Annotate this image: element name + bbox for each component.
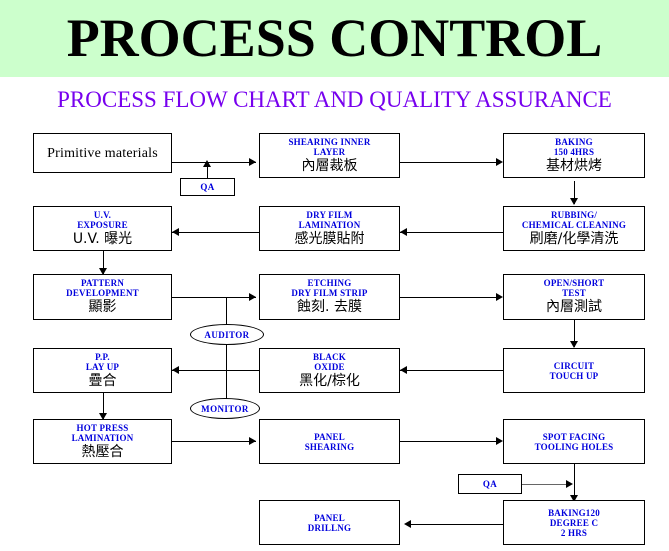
node-label-en: SHEARING INNER LAYER — [288, 137, 370, 157]
node-label-en: PANEL SHEARING — [305, 432, 355, 452]
node-label-en: BLACK OXIDE — [313, 352, 346, 372]
node-label-en: Primitive materials — [47, 145, 158, 162]
connector-panelshearing-to-spotfacing — [400, 441, 500, 442]
node-label-en: DRY FILM LAMINATION — [299, 210, 361, 230]
arrowhead-to-touchup — [570, 341, 578, 348]
arrowhead-to-drilling — [404, 520, 411, 528]
node-pattern-development[interactable]: PATTERN DEVELOPMENT 顯影 — [33, 274, 172, 320]
arrowhead-qa-bottom — [566, 480, 573, 488]
arrowhead-to-uv — [172, 228, 179, 236]
node-open-short-test[interactable]: OPEN/SHORT TEST 內層測試 — [503, 274, 645, 320]
node-label-cn: 內層裁板 — [302, 158, 358, 175]
node-primitive-materials[interactable]: Primitive materials — [33, 133, 172, 173]
arrowhead-to-etching — [249, 293, 256, 301]
node-label-en: HOT PRESS LAMINATION — [72, 423, 134, 443]
arrowhead-to-baking — [496, 158, 503, 166]
qa-checkpoint-top[interactable]: QA — [180, 178, 235, 196]
node-label-cn: 內層測試 — [546, 299, 602, 316]
node-label-en: U.V. EXPOSURE — [77, 210, 128, 230]
connector-dryfilm-to-uv — [172, 232, 260, 233]
connector-monitor-up — [226, 370, 227, 399]
role-auditor[interactable]: AUDITOR — [190, 324, 264, 345]
node-black-oxide[interactable]: BLACK OXIDE 黑化/棕化 — [259, 348, 400, 393]
connector-etching-to-test — [400, 297, 500, 298]
node-uv-exposure[interactable]: U.V. EXPOSURE U.V. 曝光 — [33, 206, 172, 251]
node-label-en: OPEN/SHORT TEST — [544, 278, 605, 298]
connector-touchup-to-blackoxide — [400, 370, 503, 371]
node-label-en: PANEL DRILLNG — [308, 513, 351, 533]
node-panel-drilling[interactable]: PANEL DRILLNG — [259, 500, 400, 545]
role-monitor[interactable]: MONITOR — [190, 398, 260, 419]
node-panel-shearing[interactable]: PANEL SHEARING — [259, 419, 400, 464]
node-label-en: ETCHING DRY FILM STRIP — [291, 278, 367, 298]
node-etching-dry-film-strip[interactable]: ETCHING DRY FILM STRIP 蝕刻. 去膜 — [259, 274, 400, 320]
connector-qa-bottom — [522, 484, 570, 485]
qa-label: QA — [483, 479, 497, 489]
node-hot-press-lamination[interactable]: HOT PRESS LAMINATION 熱壓合 — [33, 419, 172, 464]
arrowhead-to-rubbing — [570, 198, 578, 205]
node-baking-120-2hrs[interactable]: BAKING120 DEGREE C 2 HRS — [503, 500, 645, 545]
arrowhead-to-pp — [172, 366, 179, 374]
page-title: PROCESS CONTROL — [0, 3, 669, 73]
arrowhead-to-blackoxide — [400, 366, 407, 374]
connector-blackoxide-to-pp — [172, 370, 260, 371]
role-label: MONITOR — [201, 404, 249, 414]
node-label-en: RUBBING/ CHEMICAL CLEANING — [522, 210, 626, 230]
node-spot-facing-tooling-holes[interactable]: SPOT FACING TOOLING HOLES — [503, 419, 645, 464]
node-label-en: BAKING 150 4HRS — [554, 137, 594, 157]
node-label-cn: 刷磨/化學清洗 — [530, 231, 619, 248]
node-label-cn: 顯影 — [89, 299, 117, 316]
node-label-en: PATTERN DEVELOPMENT — [66, 278, 139, 298]
node-label-cn: 疊合 — [89, 373, 117, 390]
connector-pattern-to-etching — [172, 297, 256, 298]
arrowhead-to-shearing — [249, 158, 256, 166]
node-label-cn: 感光膜貼附 — [295, 231, 365, 248]
node-shearing-inner-layer[interactable]: SHEARING INNER LAYER 內層裁板 — [259, 133, 400, 178]
connector-primitive-to-shearing — [172, 162, 256, 163]
node-rubbing-chemical-cleaning[interactable]: RUBBING/ CHEMICAL CLEANING 刷磨/化學清洗 — [503, 206, 645, 251]
node-label-en: CIRCUIT TOUCH UP — [550, 361, 599, 381]
arrowhead-to-dryfilm — [400, 228, 407, 236]
connector-rubbing-to-dryfilm — [400, 232, 503, 233]
qa-checkpoint-bottom[interactable]: QA — [458, 474, 522, 494]
node-baking-150-4hrs[interactable]: BAKING 150 4HRS 基材烘烤 — [503, 133, 645, 178]
node-dry-film-lamination[interactable]: DRY FILM LAMINATION 感光膜貼附 — [259, 206, 400, 251]
page-subtitle: PROCESS FLOW CHART AND QUALITY ASSURANCE — [0, 86, 669, 114]
arrowhead-qa-top — [203, 160, 211, 167]
connector-hotpress-to-panelshearing — [172, 441, 256, 442]
arrowhead-to-test — [496, 293, 503, 301]
connector-shearing-to-baking — [400, 162, 500, 163]
node-label-cn: 基材烘烤 — [546, 158, 602, 175]
connector-auditor-up — [226, 297, 227, 324]
connector-baking120-to-drilling — [408, 524, 503, 525]
node-label-cn: 黑化/棕化 — [299, 373, 360, 390]
node-circuit-touch-up[interactable]: CIRCUIT TOUCH UP — [503, 348, 645, 393]
node-label-en: BAKING120 DEGREE C 2 HRS — [548, 508, 600, 538]
node-label-cn: 蝕刻. 去膜 — [297, 299, 362, 316]
node-label-en: P.P. LAY UP — [86, 352, 119, 372]
role-label: AUDITOR — [204, 330, 249, 340]
arrowhead-to-spotfacing — [496, 437, 503, 445]
arrowhead-to-panelshearing — [249, 437, 256, 445]
node-label-cn: U.V. 曝光 — [73, 231, 132, 248]
connector-auditor-down — [226, 344, 227, 370]
node-label-cn: 熱壓合 — [82, 444, 124, 461]
node-pp-lay-up[interactable]: P.P. LAY UP 疊合 — [33, 348, 172, 393]
qa-label: QA — [200, 182, 214, 192]
node-label-en: SPOT FACING TOOLING HOLES — [535, 432, 614, 452]
